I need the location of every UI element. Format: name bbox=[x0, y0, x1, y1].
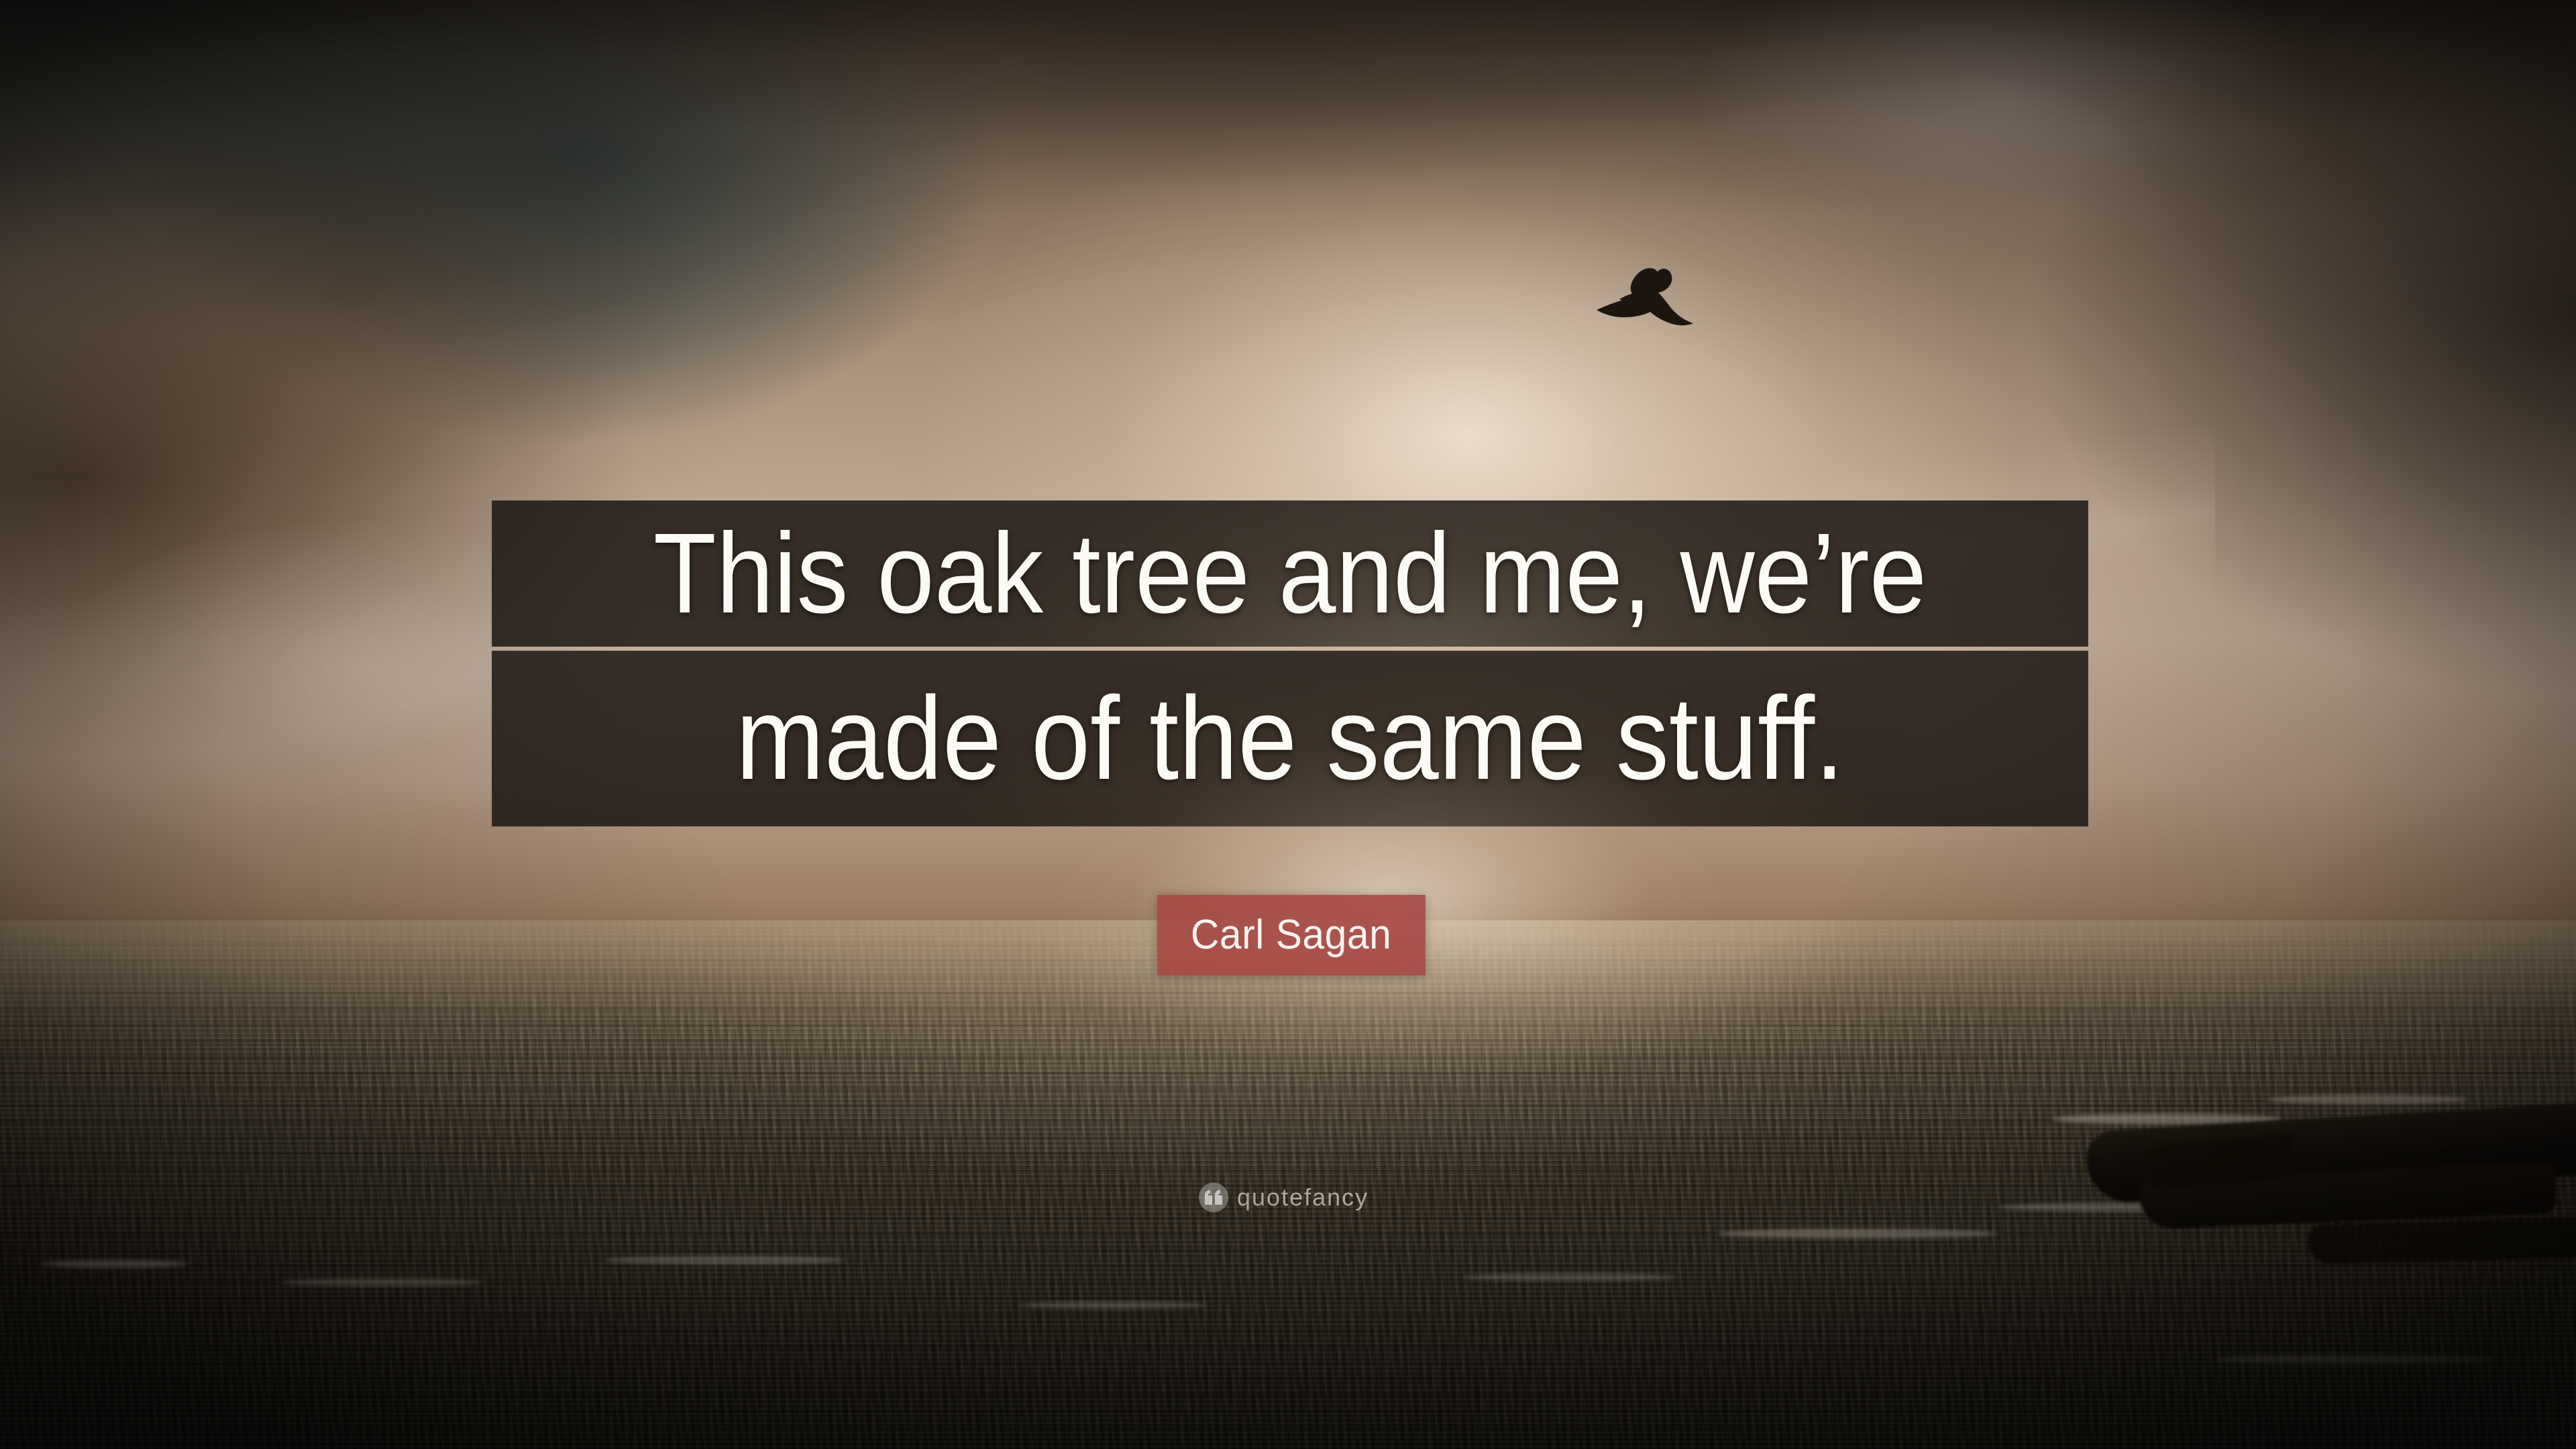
quote-line-2-text: made of the same stuff. bbox=[572, 651, 2008, 826]
quote-line-1-text: This oak tree and me, we’re bbox=[568, 500, 2012, 647]
watermark[interactable]: quotefancy bbox=[1199, 1183, 1368, 1212]
seagull-silhouette-icon bbox=[1593, 260, 1707, 341]
author-name: Carl Sagan bbox=[1191, 914, 1391, 956]
author-badge: Carl Sagan bbox=[1157, 895, 1426, 975]
watermark-brand: quotefancy bbox=[1237, 1185, 1368, 1210]
quote-line-2-panel: made of the same stuff. bbox=[492, 651, 2088, 826]
quote-block: This oak tree and me, we’re made of the … bbox=[492, 500, 2088, 826]
quote-mark-icon bbox=[1199, 1183, 1228, 1212]
quote-line-1-panel: This oak tree and me, we’re bbox=[492, 500, 2088, 647]
quote-poster: This oak tree and me, we’re made of the … bbox=[0, 0, 2576, 1449]
